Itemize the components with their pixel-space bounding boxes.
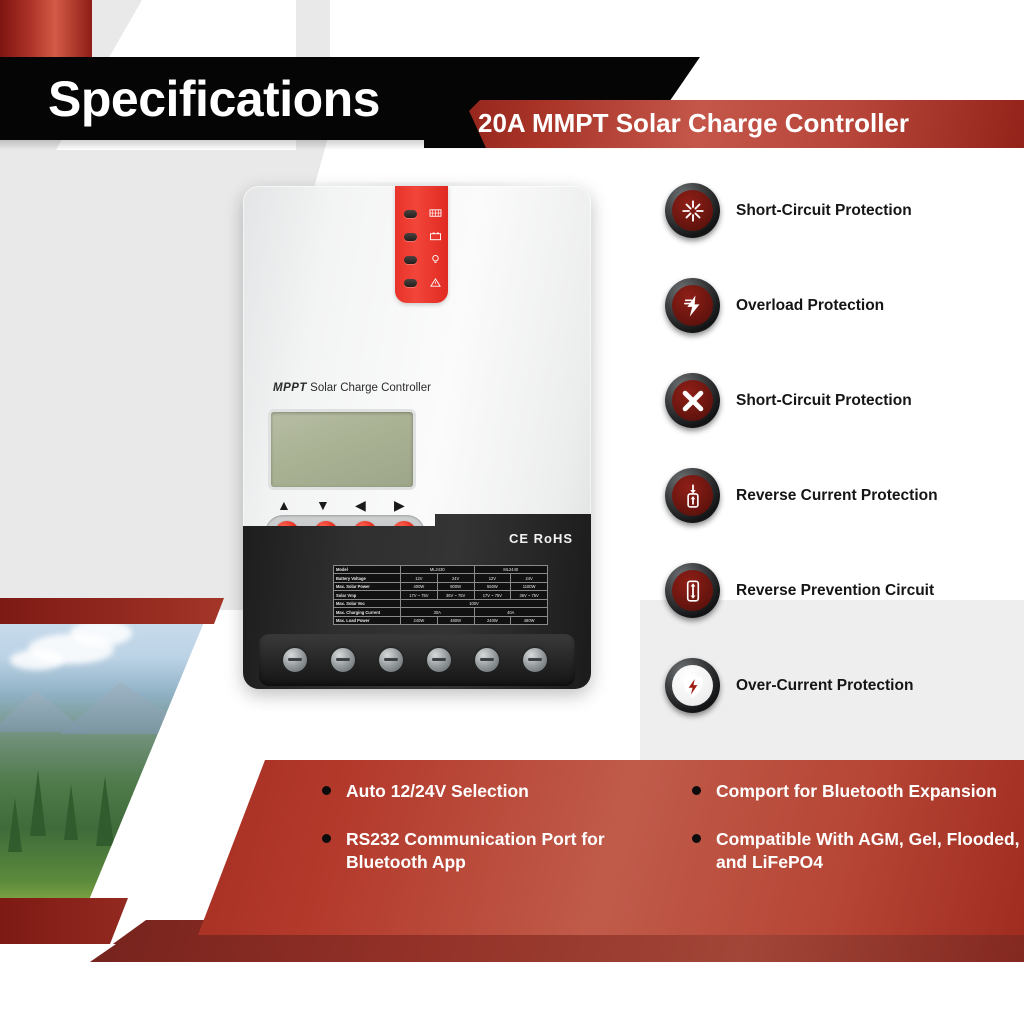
spec-row-label: Max. Load Power [334, 616, 401, 624]
spec-table-row: Max. Charging Current30A40A [334, 608, 548, 616]
bullet-item: Compatible With AGM, Gel, Flooded, and L… [690, 828, 1020, 873]
led-indicator-load [404, 256, 417, 264]
spec-table-row: ModelML2430ML2440 [334, 566, 548, 574]
bullet-item: RS232 Communication Port for Bluetooth A… [320, 828, 650, 873]
product-image-charge-controller: MPPT Solar Charge Controller ▲ ▼ ◀ ▶ CE … [243, 186, 591, 689]
feature-item: Overload Protection [665, 278, 884, 333]
photo-tree [132, 794, 147, 852]
feature-item: Short-Circuit Protection [665, 373, 912, 428]
brand-subtitle: Solar Charge Controller [310, 382, 431, 394]
photo-red-bar-top [0, 598, 250, 624]
infographic-canvas: Specifications 20A MMPT Solar Charge Con… [0, 0, 1024, 1024]
device-lcd-screen [271, 412, 413, 487]
warning-triangle-icon [429, 277, 442, 288]
feature-label: Reverse Prevention Circuit [736, 582, 934, 600]
spec-row-label: Solar Vmp [334, 591, 401, 599]
spec-cell: 400W [401, 582, 438, 590]
solar-panel-icon [429, 208, 442, 219]
device-brand-label: MPPT Solar Charge Controller [273, 382, 431, 394]
spec-cell: 36V ~ 75V [437, 591, 474, 599]
bullet-list: Auto 12/24V SelectionRS232 Communication… [320, 780, 1024, 930]
spec-cell: 36V ~ 75V [511, 591, 548, 599]
feature-item: Over-Current Protection [665, 658, 913, 713]
spec-table-row: Max. Solar Voc100V [334, 599, 548, 607]
spec-cell: 30A [401, 608, 475, 616]
product-name: 20A MMPT Solar Charge Controller [478, 100, 909, 148]
burst-icon [672, 190, 713, 231]
specification-table: ModelML2430ML2440Battery Voltage12V24V12… [333, 565, 548, 625]
spec-table-row: Solar Vmp17V ~ 75V36V ~ 75V17V ~ 75V36V … [334, 591, 548, 599]
terminal-screw [523, 648, 547, 672]
feature-label: Over-Current Protection [736, 677, 913, 695]
spec-cell: 800W [437, 582, 474, 590]
spec-cell: 12V [474, 574, 511, 582]
right-arrow-icon: ▶ [394, 496, 405, 514]
spec-cell: 100V [401, 599, 548, 607]
page-title: Specifications [48, 63, 468, 135]
bullet-column-left: Auto 12/24V SelectionRS232 Communication… [320, 780, 650, 899]
spec-row-label: Model [334, 566, 401, 574]
spec-cell: 240W [401, 616, 438, 624]
feature-label: Overload Protection [736, 297, 884, 315]
spec-cell: 24V [437, 574, 474, 582]
terminal-screw [427, 648, 451, 672]
photo-cloud [10, 650, 64, 670]
terminal-screw [283, 648, 307, 672]
spec-cell: ML2440 [474, 566, 548, 574]
feature-icon-badge [665, 468, 720, 523]
terminal-screw [475, 648, 499, 672]
bullet-item: Auto 12/24V Selection [320, 780, 650, 802]
led-indicator-fault [404, 279, 417, 287]
feature-icon-badge [665, 183, 720, 238]
spec-row-label: Max. Charging Current [334, 608, 401, 616]
double-bolt-icon [672, 285, 713, 326]
battery-icon [429, 231, 442, 242]
spec-cell: 17V ~ 75V [401, 591, 438, 599]
feature-item: Short-Circuit Protection [665, 183, 912, 238]
feature-label: Reverse Current Protection [736, 487, 938, 505]
spec-cell: 24V [511, 574, 548, 582]
spec-row-label: Max. Solar Power [334, 582, 401, 590]
terminal-screw [379, 648, 403, 672]
spec-cell: 480W [437, 616, 474, 624]
down-arrow-icon: ▼ [316, 496, 330, 514]
feature-icon-badge [665, 278, 720, 333]
brand-mppt: MPPT [273, 382, 307, 394]
x-cross-icon [672, 380, 713, 421]
feature-label: Short-Circuit Protection [736, 392, 912, 410]
bullet-column-right: Comport for Bluetooth ExpansionCompatibl… [690, 780, 1020, 899]
spec-table-row: Max. Load Power240W480W240W480W [334, 616, 548, 624]
feature-icon-badge [665, 658, 720, 713]
led-indicator-battery [404, 233, 417, 241]
spec-table-body: ModelML2430ML2440Battery Voltage12V24V12… [334, 566, 548, 625]
bulb-icon [429, 254, 442, 265]
spec-cell: 550W [474, 582, 511, 590]
device-arrow-labels: ▲ ▼ ◀ ▶ [271, 496, 419, 514]
feature-icon-badge [665, 563, 720, 618]
spec-cell: 17V ~ 75V [474, 591, 511, 599]
spec-table-row: Battery Voltage12V24V12V24V [334, 574, 548, 582]
feature-label: Short-Circuit Protection [736, 202, 912, 220]
spec-cell: ML2430 [401, 566, 475, 574]
spec-cell: 240W [474, 616, 511, 624]
spec-row-label: Battery Voltage [334, 574, 401, 582]
reverse-current-icon [672, 475, 713, 516]
spec-cell: 480W [511, 616, 548, 624]
up-arrow-icon: ▲ [277, 496, 291, 514]
left-arrow-icon: ◀ [355, 496, 366, 514]
device-terminal-plate [259, 634, 575, 686]
feature-icon-badge [665, 373, 720, 428]
device-led-strip [395, 186, 448, 303]
shield-bolt-icon [672, 665, 713, 706]
bidirectional-arrow-icon [672, 570, 713, 611]
led-indicator-solar [404, 210, 417, 218]
spec-cell: 12V [401, 574, 438, 582]
spec-row-label: Max. Solar Voc [334, 599, 401, 607]
feature-item: Reverse Prevention Circuit [665, 563, 934, 618]
spec-cell: 1100W [511, 582, 548, 590]
feature-item: Reverse Current Protection [665, 468, 938, 523]
certification-marks: CE RoHS [509, 531, 573, 546]
spec-cell: 40A [474, 608, 548, 616]
terminal-screw [331, 648, 355, 672]
bullet-item: Comport for Bluetooth Expansion [690, 780, 1020, 802]
spec-table-row: Max. Solar Power400W800W550W1100W [334, 582, 548, 590]
